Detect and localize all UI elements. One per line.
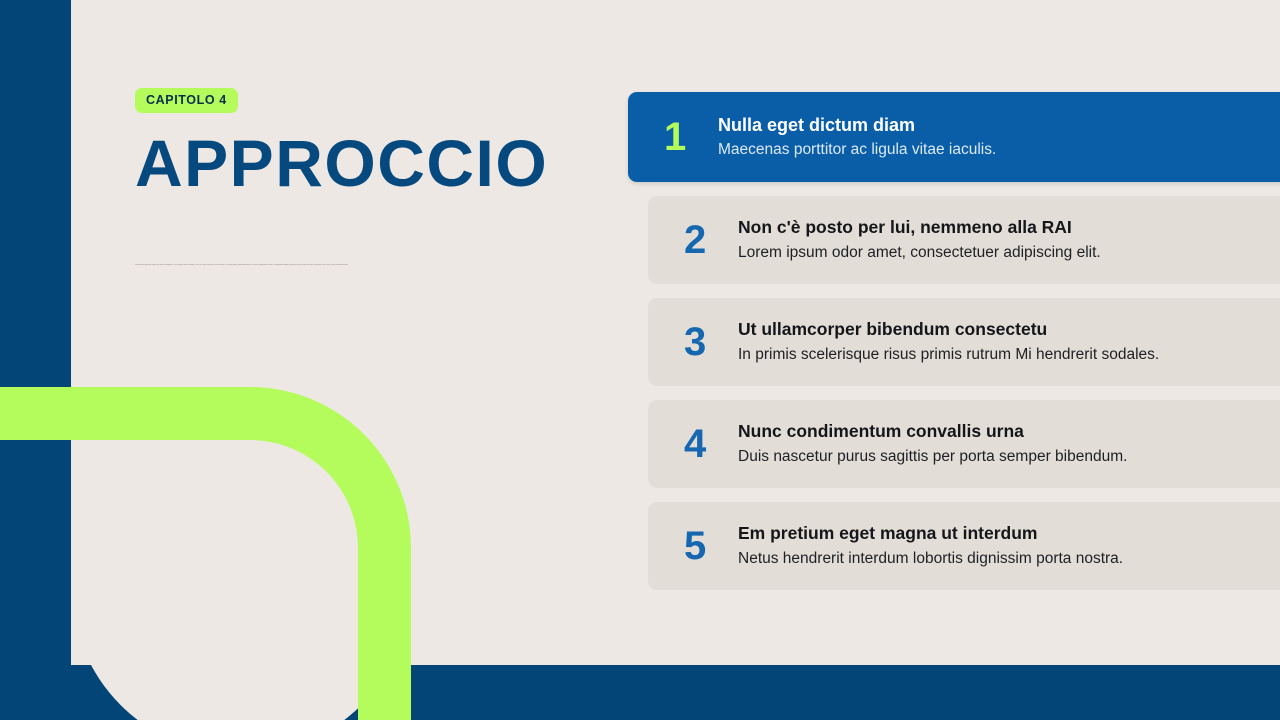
card-description: Duis nascetur purus sagittis per porta s… (738, 446, 1127, 468)
card-body: Nunc condimentum convallis urna Duis nas… (732, 420, 1127, 468)
card-number: 4 (684, 424, 732, 464)
card-body: Nulla eget dictum diam Maecenas porttito… (712, 113, 996, 162)
list-item[interactable]: 2 Non c'è posto per lui, nemmeno alla RA… (648, 196, 1280, 284)
list-item[interactable]: 5 Em pretium eget magna ut interdum Netu… (648, 502, 1280, 590)
card-body: Ut ullamcorper bibendum consectetu In pr… (732, 318, 1159, 366)
card-title: Non c'è posto per lui, nemmeno alla RAI (738, 216, 1101, 240)
card-description: Netus hendrerit interdum lobortis dignis… (738, 548, 1123, 570)
card-number: 1 (664, 117, 712, 157)
slide-canvas: CAPITOLO 4 APPROCCIO Vestibulum gravida … (0, 0, 1280, 720)
list-item[interactable]: 1 Nulla eget dictum diam Maecenas portti… (628, 92, 1280, 182)
page-title: APPROCCIO (135, 129, 555, 198)
card-number: 3 (684, 322, 732, 362)
list-item[interactable]: 4 Nunc condimentum convallis urna Duis n… (648, 400, 1280, 488)
card-title: Em pretium eget magna ut interdum (738, 522, 1123, 546)
card-body: Em pretium eget magna ut interdum Netus … (732, 522, 1123, 570)
card-number: 5 (684, 526, 732, 566)
card-description: Lorem ipsum odor amet, consectetuer adip… (738, 242, 1101, 264)
left-content-column: CAPITOLO 4 APPROCCIO Vestibulum gravida … (135, 88, 555, 268)
card-title: Nulla eget dictum diam (718, 113, 996, 137)
micro-paragraph: Vestibulum gravida sem nisi mauris habit… (135, 264, 480, 268)
card-title: Nunc condimentum convallis urna (738, 420, 1127, 444)
card-description: In primis scelerisque risus primis rutru… (738, 344, 1159, 366)
card-number: 2 (684, 220, 732, 260)
list-item[interactable]: 3 Ut ullamcorper bibendum consectetu In … (648, 298, 1280, 386)
chapter-badge: CAPITOLO 4 (135, 88, 238, 113)
card-description: Maecenas porttitor ac ligula vitae iacul… (718, 139, 996, 161)
numbered-card-list: 1 Nulla eget dictum diam Maecenas portti… (648, 92, 1280, 604)
card-title: Ut ullamcorper bibendum consectetu (738, 318, 1159, 342)
card-body: Non c'è posto per lui, nemmeno alla RAI … (732, 216, 1101, 264)
